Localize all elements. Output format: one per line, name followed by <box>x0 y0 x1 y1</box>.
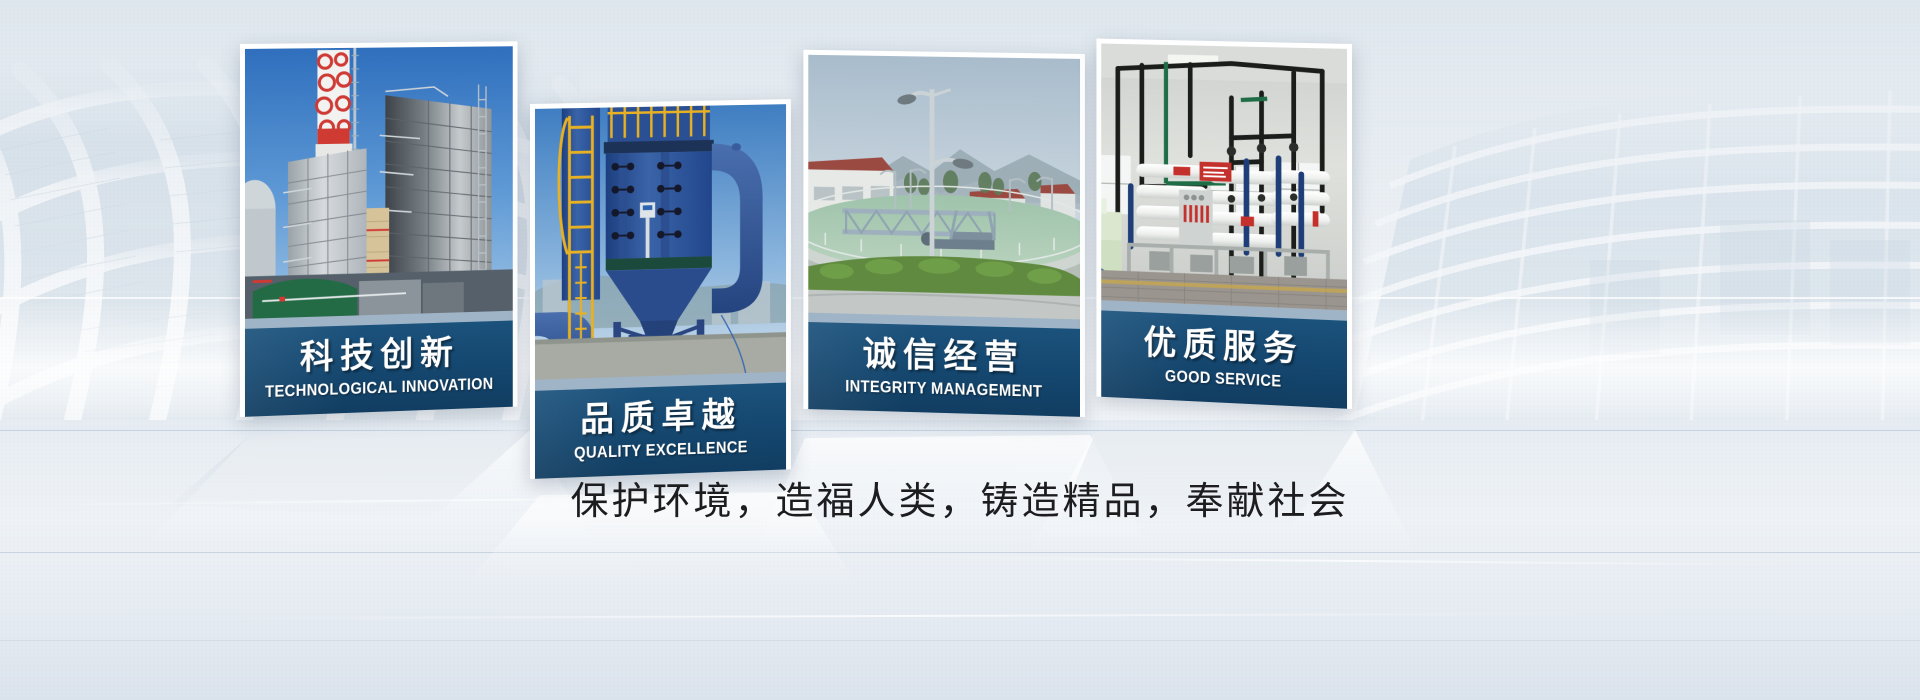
panel-quality-excellence[interactable]: 品质卓越 QUALITY EXCELLENCE <box>530 99 791 479</box>
panel-integrity-management[interactable]: 诚信经营 INTEGRITY MANAGEMENT <box>803 50 1085 418</box>
banner-tagline: 保护环境，造福人类，铸造精品，奉献社会 <box>0 470 1920 525</box>
panel-title-en: QUALITY EXCELLENCE <box>550 435 771 464</box>
banner-stage: 科技创新 TECHNOLOGICAL INNOVATION <box>0 0 1920 700</box>
caption-technological-innovation: 科技创新 TECHNOLOGICAL INNOVATION <box>245 321 513 418</box>
photo-technological-innovation <box>245 46 513 329</box>
panel-title-cn: 诚信经营 <box>808 334 1080 379</box>
photo-quality-excellence <box>535 104 786 391</box>
caption-good-service: 优质服务 GOOD SERVICE <box>1101 310 1347 409</box>
panel-group: 科技创新 TECHNOLOGICAL INNOVATION <box>0 0 1920 700</box>
panel-good-service[interactable]: 优质服务 GOOD SERVICE <box>1096 39 1352 410</box>
caption-integrity-management: 诚信经营 INTEGRITY MANAGEMENT <box>808 322 1080 417</box>
panel-title-en: TECHNOLOGICAL INNOVATION <box>261 373 497 402</box>
panel-technological-innovation[interactable]: 科技创新 TECHNOLOGICAL INNOVATION <box>240 41 518 417</box>
panel-title-cn: 品质卓越 <box>535 394 786 440</box>
photo-integrity-management <box>808 55 1080 329</box>
panel-title-cn: 科技创新 <box>245 332 513 379</box>
photo-good-service <box>1101 44 1347 321</box>
caption-quality-excellence: 品质卓越 QUALITY EXCELLENCE <box>535 383 786 480</box>
panel-title-en: INTEGRITY MANAGEMENT <box>824 375 1063 403</box>
